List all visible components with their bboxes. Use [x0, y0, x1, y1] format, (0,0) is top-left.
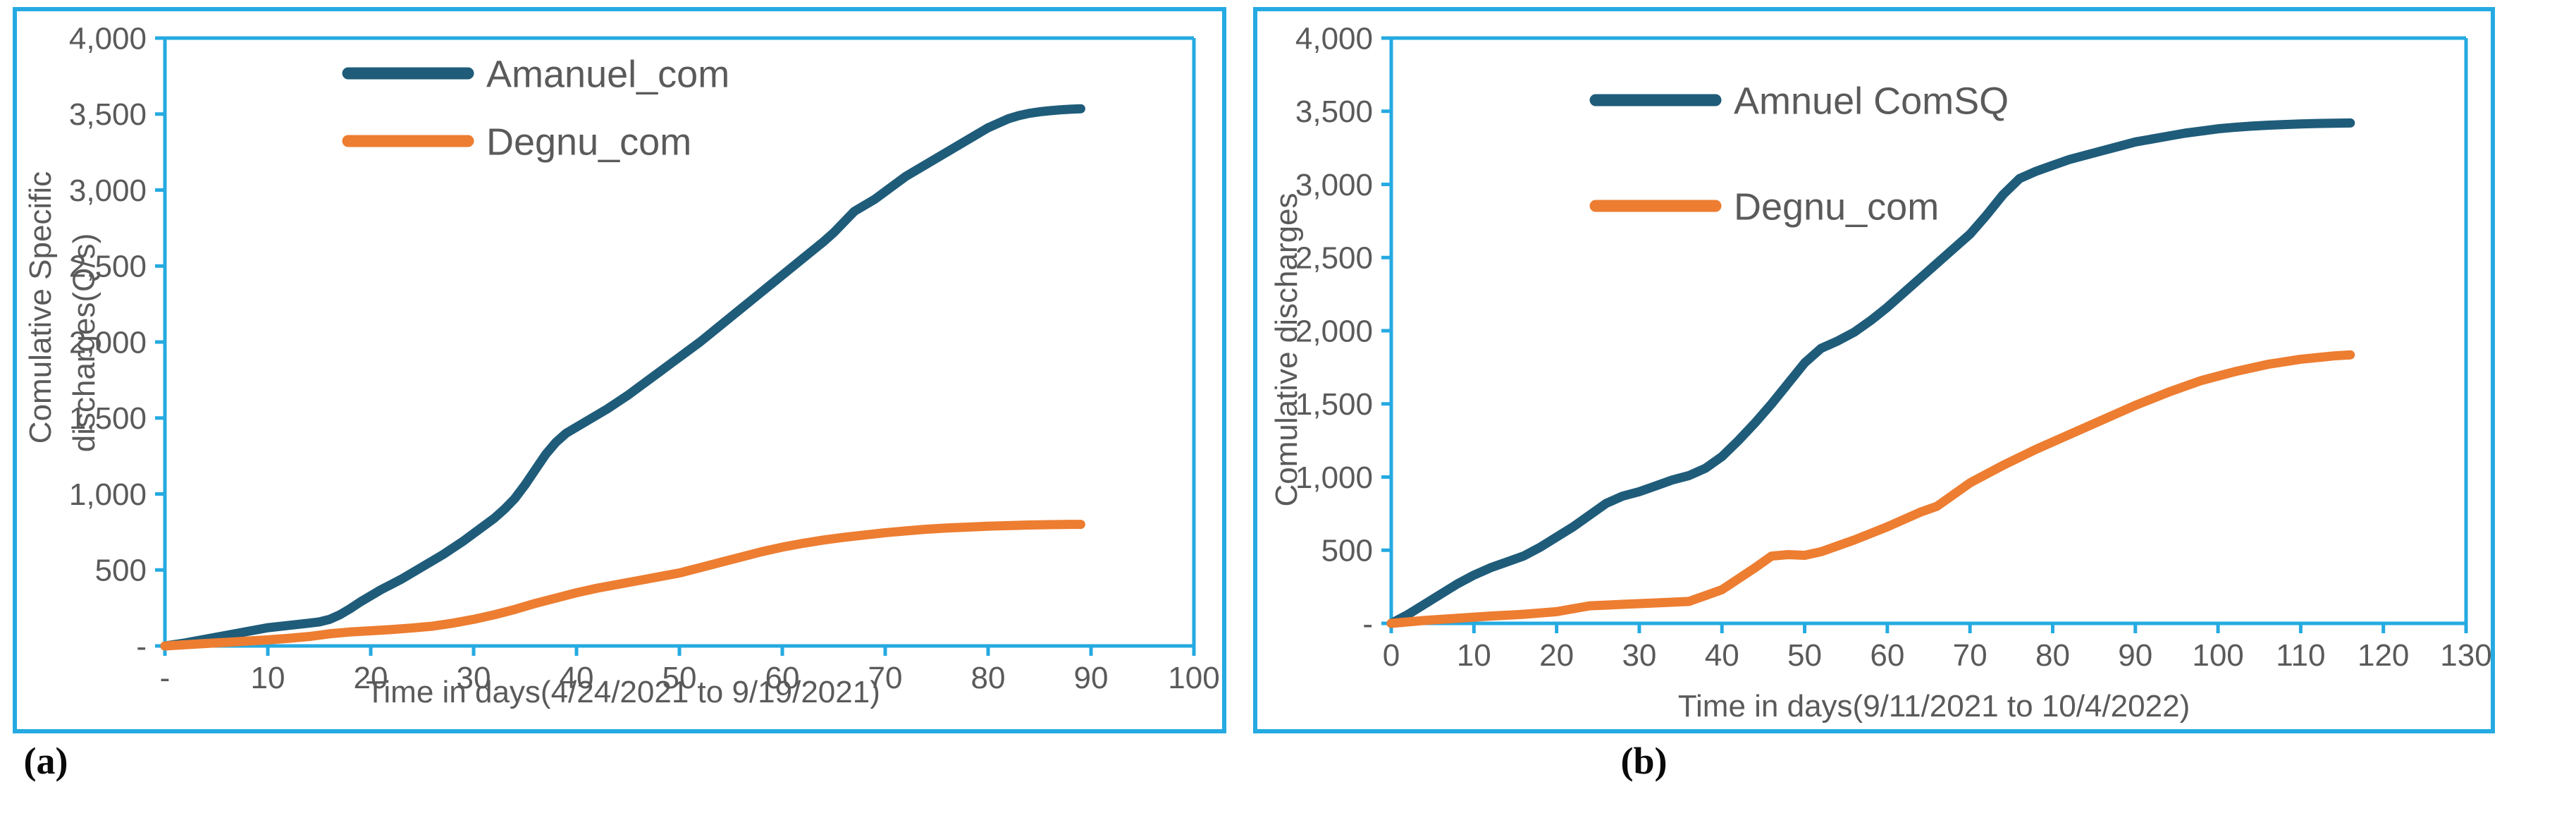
- svg-text:discharges(Q/s): discharges(Q/s): [67, 233, 101, 453]
- svg-text:-: -: [160, 661, 171, 695]
- svg-text:4,000: 4,000: [1295, 21, 1373, 56]
- svg-text:0: 0: [1383, 638, 1400, 673]
- figure-container: -5001,0001,5002,0002,5003,0003,5004,000-…: [0, 0, 2576, 818]
- svg-text:2,000: 2,000: [1295, 314, 1373, 348]
- svg-text:3,000: 3,000: [1295, 168, 1373, 202]
- svg-text:100: 100: [2192, 638, 2243, 673]
- svg-text:500: 500: [1321, 534, 1373, 568]
- svg-text:130: 130: [2440, 638, 2491, 673]
- panel-a: -5001,0001,5002,0002,5003,0003,5004,000-…: [0, 0, 1247, 818]
- svg-text:20: 20: [1539, 638, 1574, 673]
- svg-text:Amanuel_com: Amanuel_com: [486, 53, 729, 95]
- svg-text:-: -: [136, 629, 147, 664]
- svg-text:80: 80: [971, 661, 1006, 695]
- svg-text:50: 50: [1787, 638, 1822, 673]
- svg-text:500: 500: [95, 554, 147, 588]
- svg-text:110: 110: [2276, 638, 2325, 673]
- svg-text:30: 30: [1622, 638, 1656, 673]
- panel-b-caption: (b): [980, 739, 2308, 783]
- svg-text:90: 90: [1074, 661, 1109, 695]
- svg-text:Degnu_com: Degnu_com: [1734, 185, 1939, 228]
- svg-text:120: 120: [2358, 638, 2409, 673]
- panel-a-chart-frame: -5001,0001,5002,0002,5003,0003,5004,000-…: [13, 7, 1226, 733]
- svg-text:3,500: 3,500: [1295, 94, 1373, 129]
- svg-text:40: 40: [1705, 638, 1739, 673]
- svg-text:Time in days(9/11/2021 to 10/4: Time in days(9/11/2021 to 10/4/2022): [1678, 689, 2190, 724]
- panel-b-chart[interactable]: -5001,0001,5002,0002,5003,0003,5004,0000…: [1257, 11, 2491, 729]
- svg-text:1,000: 1,000: [1295, 460, 1373, 495]
- svg-text:70: 70: [1953, 638, 1988, 673]
- svg-text:Degnu_com: Degnu_com: [486, 121, 691, 163]
- svg-text:3,000: 3,000: [69, 173, 147, 208]
- svg-text:10: 10: [251, 661, 285, 695]
- panel-a-caption: (a): [0, 739, 670, 783]
- panel-b: -5001,0001,5002,0002,5003,0003,5004,0000…: [1247, 0, 2576, 818]
- svg-text:90: 90: [2118, 638, 2152, 673]
- svg-text:10: 10: [1457, 638, 1491, 673]
- svg-text:2,500: 2,500: [1295, 241, 1373, 276]
- svg-text:100: 100: [1168, 661, 1219, 695]
- panel-b-chart-frame: -5001,0001,5002,0002,5003,0003,5004,0000…: [1253, 7, 2495, 733]
- svg-text:Time in days(4/24/2021 to 9/19: Time in days(4/24/2021 to 9/19/2021): [366, 675, 880, 709]
- svg-text:Amnuel ComSQ: Amnuel ComSQ: [1734, 80, 2009, 122]
- svg-text:1,000: 1,000: [69, 477, 147, 512]
- svg-text:Comulative discharges: Comulative discharges: [1269, 193, 1304, 506]
- svg-text:3,500: 3,500: [69, 97, 147, 132]
- svg-text:1,500: 1,500: [1295, 387, 1373, 422]
- svg-text:-: -: [1362, 606, 1373, 641]
- svg-text:60: 60: [1870, 638, 1904, 673]
- svg-text:Comulative Specific: Comulative Specific: [23, 171, 58, 444]
- svg-text:4,000: 4,000: [69, 21, 147, 56]
- svg-text:80: 80: [2035, 638, 2070, 673]
- panel-a-chart[interactable]: -5001,0001,5002,0002,5003,0003,5004,000-…: [17, 11, 1222, 729]
